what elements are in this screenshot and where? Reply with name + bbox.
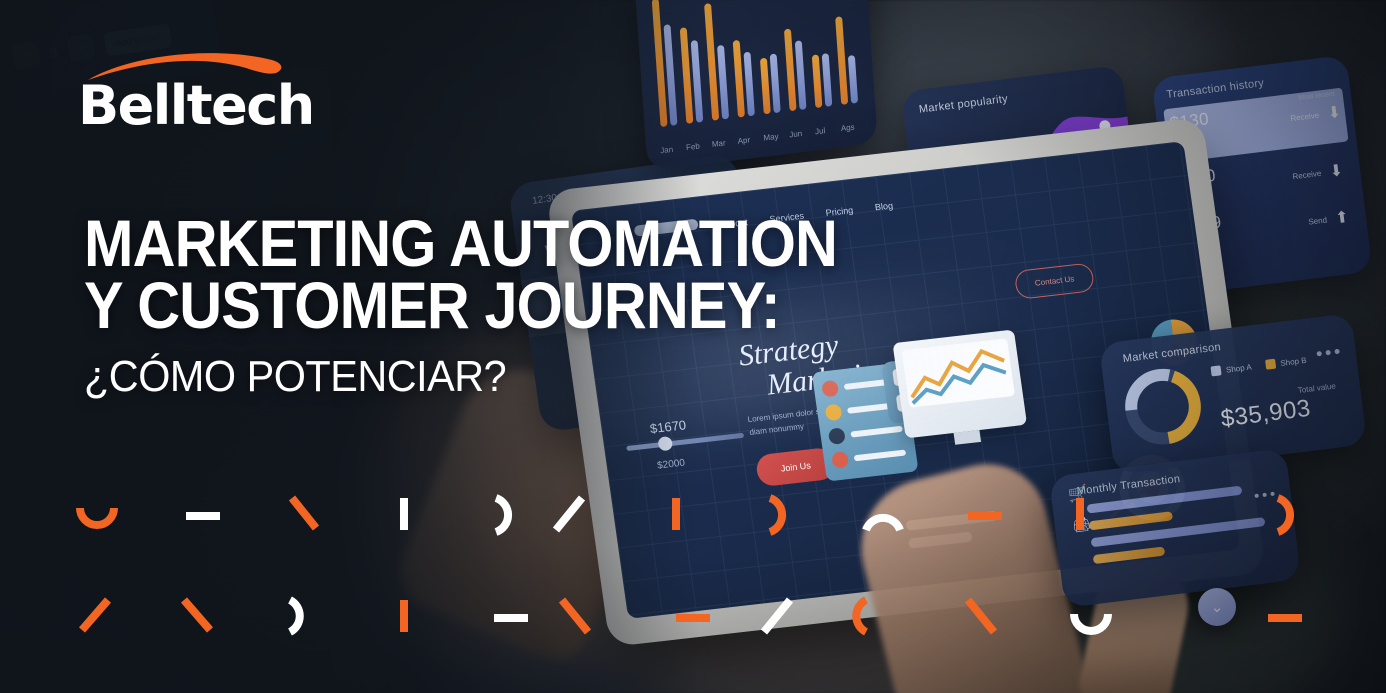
headline-subtitle: ¿CÓMO POTENCIAR?	[84, 352, 1005, 402]
decorative-marks	[0, 480, 1386, 670]
headline-block: MARKETING AUTOMATION Y CUSTOMER JOURNEY:…	[84, 212, 1064, 402]
belltech-logo[interactable]: Belltech	[78, 48, 314, 137]
marketing-banner: 12:30 📶 ᯤ Welcome 👤 💬 🙍 Jan Feb Mar Apr …	[0, 0, 1386, 693]
decorative-marks-svg	[0, 480, 1386, 670]
arc-swoosh-icon	[86, 48, 286, 82]
headline-line-2: Y CUSTOMER JOURNEY:	[84, 274, 966, 336]
logo-wordmark: Belltech	[78, 74, 314, 137]
headline-line-1: MARKETING AUTOMATION	[84, 212, 966, 274]
